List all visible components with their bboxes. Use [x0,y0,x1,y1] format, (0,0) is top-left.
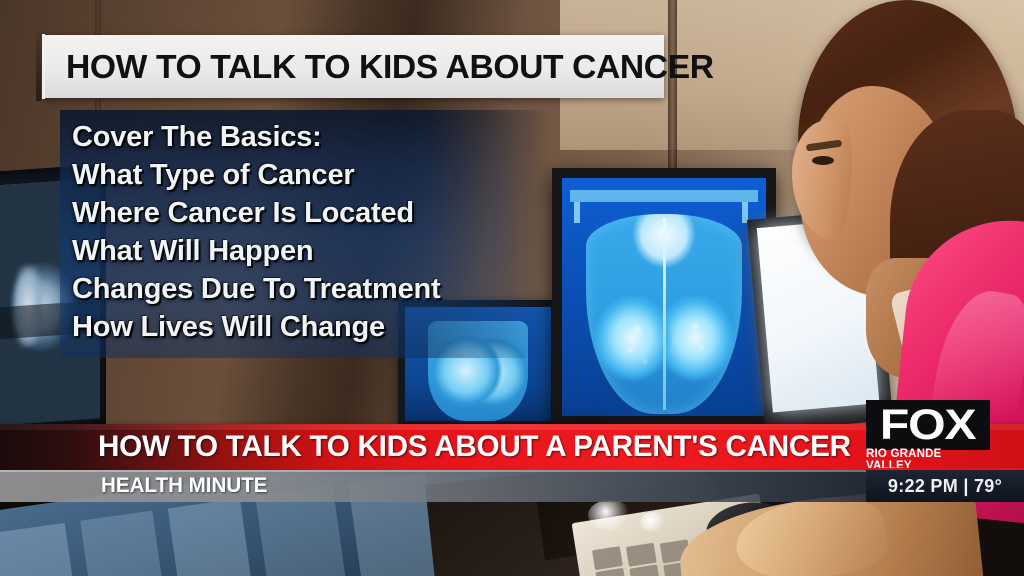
keyboard-highlight-1 [588,500,632,530]
lower-third-segment: HEALTH MINUTE [101,474,268,498]
banner-left-accent-inner [42,34,45,99]
station-logo: FOX RIO GRANDE VALLEY [866,400,990,470]
station-market-label: RIO GRANDE VALLEY [866,450,990,470]
segment-bar-topline [0,470,880,472]
time-temperature-bar: 9:22 PM | 79° [866,470,1024,502]
page-title: HOW TO TALK TO KIDS ABOUT CANCER [66,48,714,86]
face-profile [792,120,852,240]
broadcast-screenshot: HOW TO TALK TO KIDS ABOUT CANCER Cover T… [0,0,1024,576]
list-item: How Lives Will Change [72,308,632,346]
eye [812,156,834,165]
fox-wordmark: FOX [880,404,976,447]
lower-third-segment-bar: HEALTH MINUTE [0,470,880,502]
lower-third-headline: HOW TO TALK TO KIDS ABOUT A PARENT'S CAN… [98,430,851,464]
list-item: Cover The Basics: [72,118,632,156]
fox-logo-box: FOX [866,400,990,450]
list-item: Changes Due To Treatment [72,270,632,308]
list-item: What Will Happen [72,232,632,270]
time-temperature-text: 9:22 PM | 79° [888,476,1002,497]
banner-left-accent [36,32,41,101]
title-banner: HOW TO TALK TO KIDS ABOUT CANCER [44,35,664,98]
keyboard-highlight-2 [640,512,666,532]
list-item: Where Cancer Is Located [72,194,632,232]
list-item: What Type of Cancer [72,156,632,194]
info-panel-list: Cover The Basics: What Type of Cancer Wh… [72,118,632,346]
